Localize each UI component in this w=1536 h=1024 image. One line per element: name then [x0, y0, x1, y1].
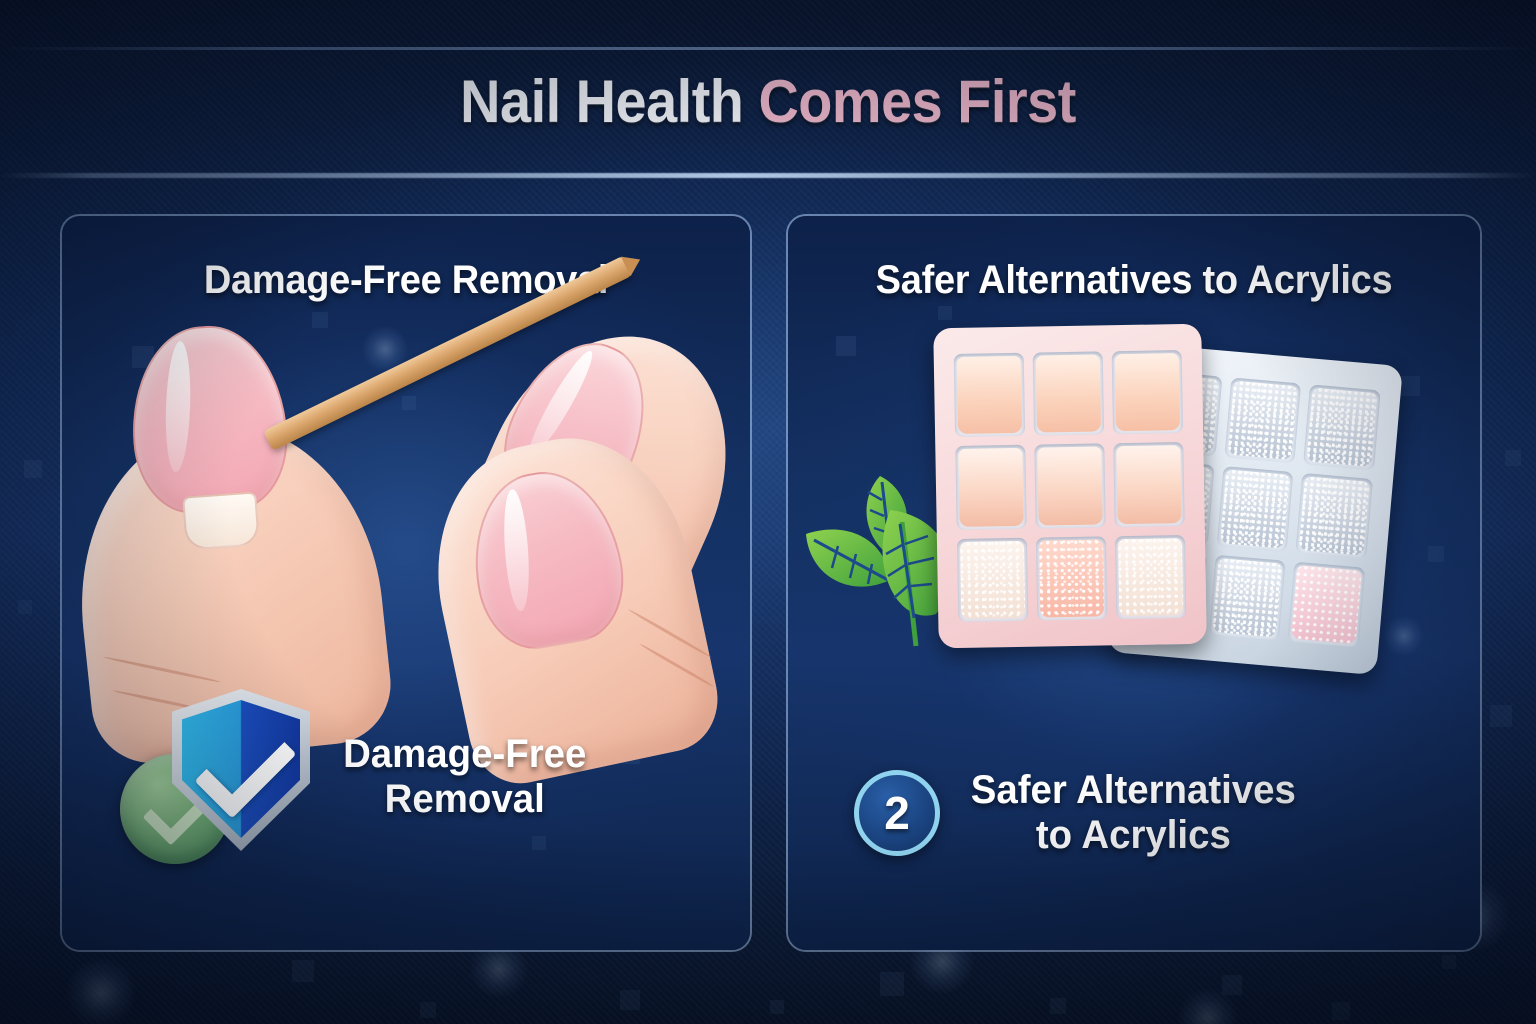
press-on-nail	[958, 448, 1023, 526]
tray-cell	[1288, 562, 1365, 648]
press-on-tray-front	[933, 324, 1207, 649]
bg-square	[1490, 705, 1512, 727]
bg-square	[620, 990, 640, 1010]
tray-cell	[1036, 536, 1107, 621]
press-on-nail	[957, 356, 1022, 434]
tray-cell	[1034, 444, 1105, 529]
caption-safer-alternatives: 2 Safer Alternatives to Acrylics	[854, 768, 1303, 858]
bg-square	[770, 1000, 784, 1014]
press-on-nail	[1118, 538, 1183, 616]
bg-square	[1050, 998, 1066, 1014]
badge-stack	[120, 689, 310, 864]
press-on-nail	[1037, 447, 1102, 525]
caption-text: Damage-Free Removal	[343, 732, 586, 822]
infographic-canvas: Nail Health Comes First Damage-Free Remo…	[0, 0, 1536, 1024]
bg-square	[1505, 450, 1521, 466]
caption-text: Safer Alternatives to Acrylics	[971, 768, 1296, 858]
press-on-nail	[1220, 469, 1291, 548]
bg-square	[1222, 975, 1242, 995]
tray-cell	[957, 537, 1028, 622]
press-on-nail	[1307, 388, 1378, 467]
number-badge-2: 2	[854, 770, 940, 856]
press-on-nail	[1115, 353, 1180, 431]
tray-cell	[1115, 535, 1186, 620]
caption-line-2: to Acrylics	[971, 813, 1296, 858]
press-on-nail	[1039, 539, 1104, 617]
caption-line-2: Removal	[343, 777, 586, 822]
nail-shine	[501, 489, 532, 613]
bg-square	[24, 460, 42, 478]
caption-line-1: Safer Alternatives	[971, 768, 1296, 813]
press-on-nail	[1212, 558, 1283, 637]
tray-cell	[1224, 377, 1301, 463]
illustration-hand-cuticle-stick	[62, 312, 750, 742]
illustration-press-on-kits	[788, 312, 1480, 742]
tray-cell	[1303, 384, 1380, 470]
tray-cell	[1216, 466, 1293, 552]
bg-square	[1332, 1002, 1350, 1020]
caption-damage-free-removal: Damage-Free Removal	[120, 689, 591, 864]
shield-check-icon	[172, 689, 310, 851]
tray-cell	[1033, 351, 1104, 436]
bg-glow	[1178, 988, 1238, 1024]
nail-shine	[164, 341, 193, 473]
bg-square	[880, 972, 904, 996]
panel-damage-free-removal: Damage-Free Removal	[60, 214, 752, 952]
press-on-nail	[1291, 565, 1362, 644]
tray-cell	[954, 353, 1025, 438]
tray-cell	[1296, 473, 1373, 559]
press-on-nail	[1299, 476, 1370, 555]
press-on-nail	[1036, 354, 1101, 432]
tray-cell	[1113, 442, 1184, 527]
top-rule	[0, 47, 1536, 50]
bg-square	[292, 960, 314, 982]
caption-line-1: Damage-Free	[343, 732, 586, 777]
nail-thumb	[126, 321, 293, 517]
tray-cell	[1112, 350, 1183, 435]
bg-square	[1442, 955, 1456, 969]
bg-glow	[66, 958, 136, 1024]
nail-free-edge	[182, 491, 260, 550]
tray-cell	[1209, 555, 1286, 641]
tray-cell	[955, 445, 1026, 530]
panel-heading: Safer Alternatives to Acrylics	[805, 258, 1462, 303]
press-on-nail	[1116, 445, 1181, 523]
press-on-nail	[960, 540, 1025, 618]
press-on-nail	[1227, 381, 1298, 460]
header-divider	[0, 173, 1536, 178]
title-accent: Comes First	[758, 68, 1075, 135]
title-primary: Nail Health	[460, 68, 758, 135]
panel-safer-alternatives: Safer Alternatives to Acrylics	[786, 214, 1482, 952]
page-title: Nail Health Comes First	[0, 72, 1536, 132]
bg-square	[18, 600, 32, 614]
bg-square	[420, 1002, 436, 1018]
